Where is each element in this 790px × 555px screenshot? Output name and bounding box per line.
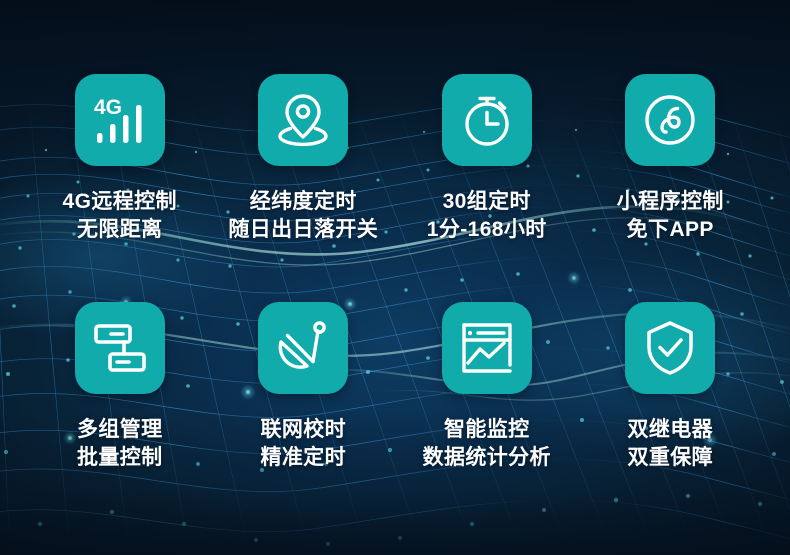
feature-caption: 4G远程控制 无限距离 <box>63 188 177 244</box>
feature-caption-line2: 随日出日落开关 <box>228 216 378 244</box>
feature-item-time-sync[interactable]: 联网校时 精准定时 <box>212 298 396 510</box>
feature-grid: 4G 4G远程控制 无限距离 <box>0 0 790 555</box>
feature-caption: 30组定时 1分-168小时 <box>427 188 547 244</box>
shield-check-icon <box>641 319 699 377</box>
feature-item-smart-monitor[interactable]: 智能监控 数据统计分析 <box>395 298 579 510</box>
feature-item-timer-groups[interactable]: 30组定时 1分-168小时 <box>395 74 579 286</box>
feature-banner: 4G 4G远程控制 无限距离 <box>0 0 790 555</box>
chart-window-icon <box>458 319 516 377</box>
feature-caption-line2: 数据统计分析 <box>423 444 551 472</box>
feature-caption-line1: 4G远程控制 <box>63 190 177 213</box>
feature-caption-line2: 无限距离 <box>63 216 177 244</box>
wechat-miniprogram-icon <box>641 91 699 149</box>
feature-caption-line1: 小程序控制 <box>617 190 724 213</box>
feature-caption: 智能监控 数据统计分析 <box>423 416 551 472</box>
feature-caption-line2: 双重保障 <box>627 444 713 472</box>
feature-icon-tile: 4G <box>75 74 165 166</box>
feature-item-group-management[interactable]: 多组管理 批量控制 <box>28 298 212 510</box>
feature-caption: 多组管理 批量控制 <box>77 416 163 472</box>
feature-caption-line1: 多组管理 <box>77 418 163 441</box>
feature-item-4g-remote[interactable]: 4G 4G远程控制 无限距离 <box>28 74 212 286</box>
feature-icon-tile <box>442 302 532 394</box>
feature-icon-tile <box>625 74 715 166</box>
feature-caption: 联网校时 精准定时 <box>260 416 346 472</box>
4g-signal-icon: 4G <box>91 91 149 149</box>
4g-label: 4G <box>94 96 122 119</box>
feature-caption: 小程序控制 免下APP <box>617 188 724 244</box>
feature-caption-line2: 免下APP <box>617 216 724 244</box>
feature-caption-line1: 双继电器 <box>627 418 713 441</box>
feature-caption-line1: 联网校时 <box>260 418 346 441</box>
feature-icon-tile <box>258 74 348 166</box>
feature-icon-tile <box>258 302 348 394</box>
feature-caption-line2: 1分-168小时 <box>427 216 547 244</box>
server-group-icon <box>91 319 149 377</box>
feature-item-miniprogram[interactable]: 小程序控制 免下APP <box>579 74 763 286</box>
feature-caption: 双继电器 双重保障 <box>627 416 713 472</box>
feature-caption-line1: 经纬度定时 <box>250 190 357 213</box>
feature-icon-tile <box>442 74 532 166</box>
feature-caption-line2: 批量控制 <box>77 444 163 472</box>
stopwatch-timer-icon <box>458 91 516 149</box>
feature-caption: 经纬度定时 随日出日落开关 <box>228 188 378 244</box>
feature-item-geo-timer[interactable]: 经纬度定时 随日出日落开关 <box>212 74 396 286</box>
feature-icon-tile <box>625 302 715 394</box>
feature-icon-tile <box>75 302 165 394</box>
feature-caption-line1: 30组定时 <box>443 190 531 213</box>
feature-caption-line1: 智能监控 <box>444 418 530 441</box>
feature-item-dual-relay[interactable]: 双继电器 双重保障 <box>579 298 763 510</box>
satellite-dish-icon <box>274 319 332 377</box>
feature-caption-line2: 精准定时 <box>260 444 346 472</box>
location-pin-icon <box>274 91 332 149</box>
